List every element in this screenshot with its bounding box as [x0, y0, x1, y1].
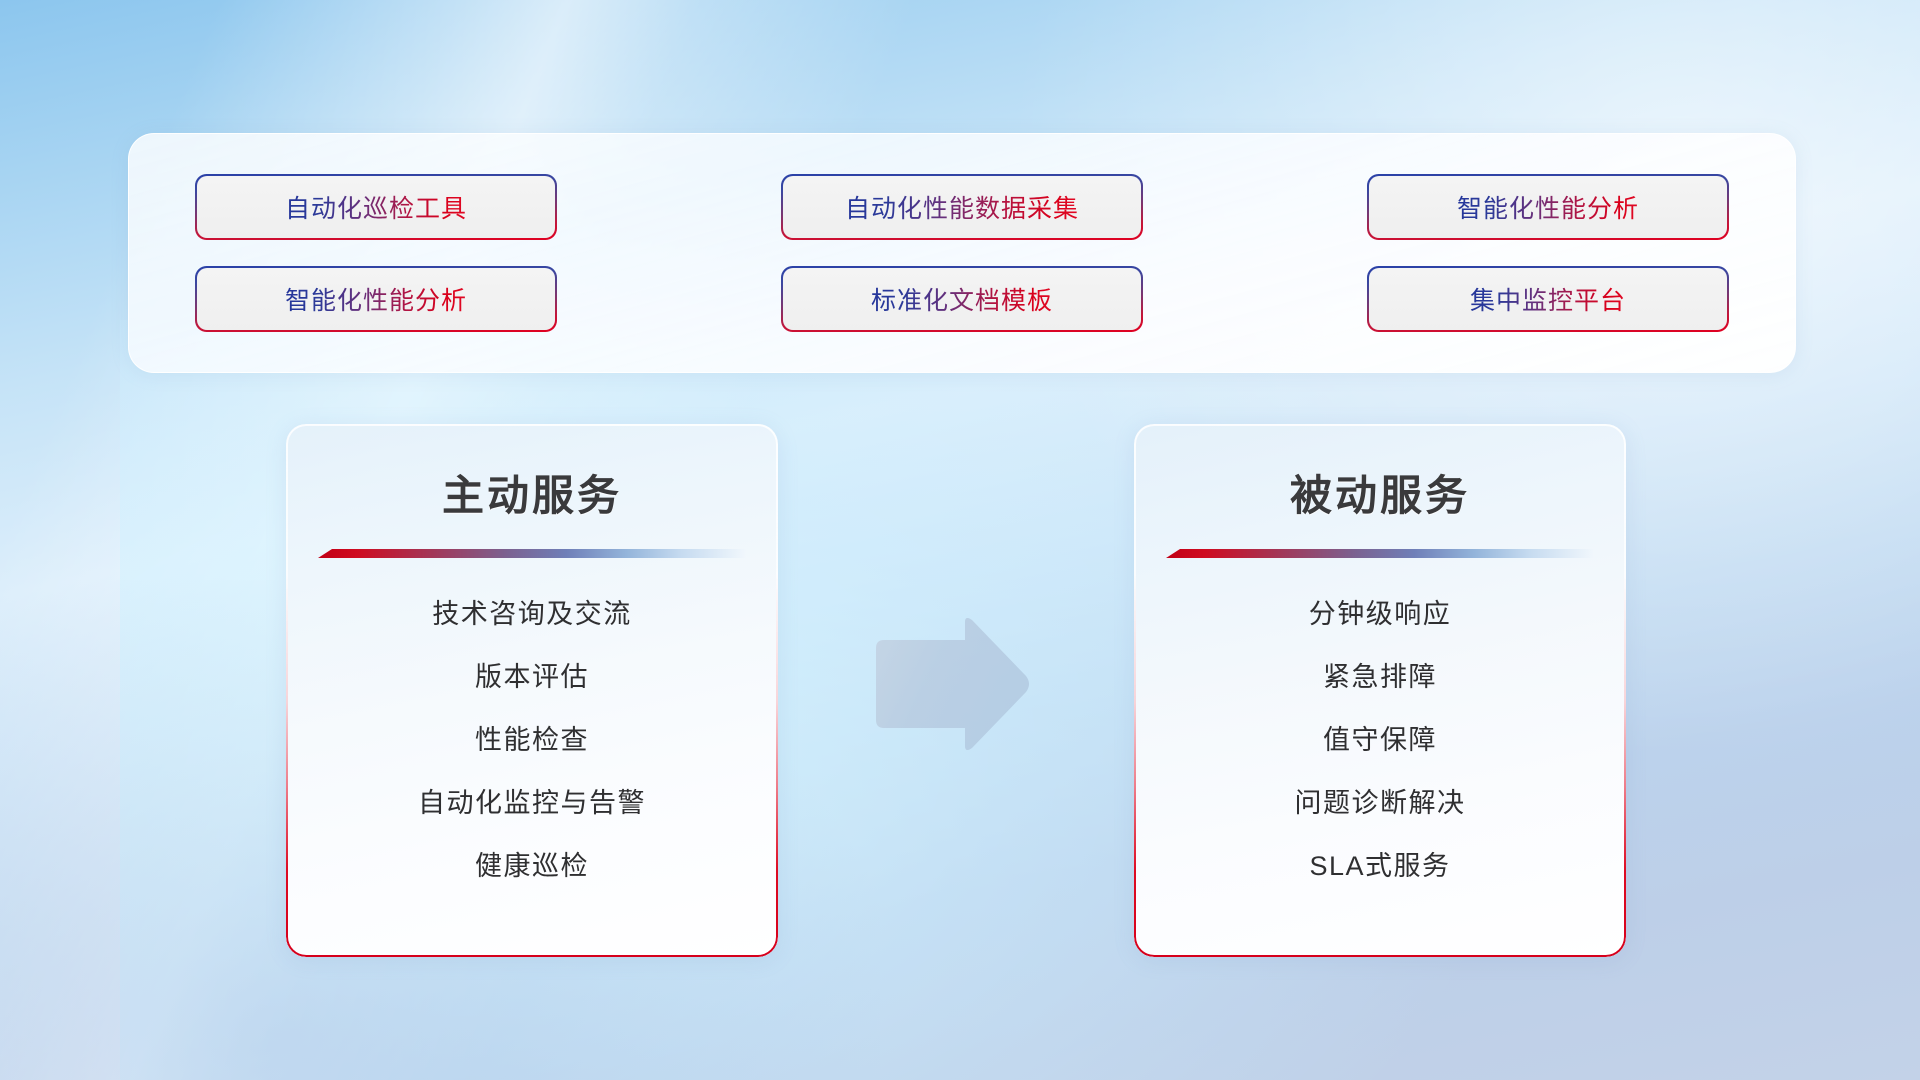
- list-item: 分钟级响应: [1309, 592, 1452, 631]
- panel-reactive-service: 被动服务 分钟级响应 紧急排障 值守保障 问题诊断解决 SLA式服务: [1134, 424, 1626, 957]
- panel-proactive-service: 主动服务 技术咨询及交流 版本评估 性能检查 自动化监控与告警 健康巡检: [286, 424, 778, 957]
- capability-row-1: 自动化巡检工具 自动化性能数据采集 智能化性能分析: [197, 176, 1727, 238]
- list-item: 技术咨询及交流: [432, 592, 632, 631]
- capability-chip-label: 自动化巡检工具: [285, 189, 467, 225]
- capability-chip-label: 智能化性能分析: [1457, 189, 1639, 225]
- panel-divider: [1166, 549, 1594, 558]
- capability-chip-label: 标准化文档模板: [871, 281, 1053, 317]
- capability-chip-intelligent-performance-analysis[interactable]: 智能化性能分析: [1369, 176, 1727, 238]
- capability-chip-automated-inspection-tool[interactable]: 自动化巡检工具: [197, 176, 555, 238]
- capability-row-2: 智能化性能分析 标准化文档模板 集中监控平台: [197, 268, 1727, 330]
- panel-divider: [318, 549, 746, 558]
- list-item: 紧急排障: [1323, 655, 1437, 694]
- list-item: SLA式服务: [1309, 844, 1450, 883]
- list-item: 性能检查: [475, 718, 589, 757]
- capability-chip-standardized-document-template[interactable]: 标准化文档模板: [783, 268, 1141, 330]
- capability-chip-centralized-monitoring-platform[interactable]: 集中监控平台: [1369, 268, 1727, 330]
- list-item: 自动化监控与告警: [418, 781, 646, 820]
- panel-title: 被动服务: [1134, 462, 1626, 523]
- list-item: 版本评估: [475, 655, 589, 694]
- capability-chip-label: 智能化性能分析: [285, 281, 467, 317]
- capability-chip-automated-performance-data-collection[interactable]: 自动化性能数据采集: [783, 176, 1141, 238]
- panel-service-list: 技术咨询及交流 版本评估 性能检查 自动化监控与告警 健康巡检: [286, 592, 778, 883]
- panel-title: 主动服务: [286, 462, 778, 523]
- panel-service-list: 分钟级响应 紧急排障 值守保障 问题诊断解决 SLA式服务: [1134, 592, 1626, 883]
- capability-chip-label: 自动化性能数据采集: [845, 189, 1079, 225]
- list-item: 问题诊断解决: [1295, 781, 1466, 820]
- list-item: 值守保障: [1323, 718, 1437, 757]
- list-item: 健康巡检: [475, 844, 589, 883]
- capability-chip-intelligent-performance-analysis-2[interactable]: 智能化性能分析: [197, 268, 555, 330]
- capability-chip-label: 集中监控平台: [1470, 281, 1626, 317]
- arrow-right-icon: [872, 618, 1032, 750]
- capability-card: 自动化巡检工具 自动化性能数据采集 智能化性能分析 智能化性能分析 标准化文档模…: [128, 133, 1796, 373]
- diagram-canvas: 自动化巡检工具 自动化性能数据采集 智能化性能分析 智能化性能分析 标准化文档模…: [0, 0, 1920, 1080]
